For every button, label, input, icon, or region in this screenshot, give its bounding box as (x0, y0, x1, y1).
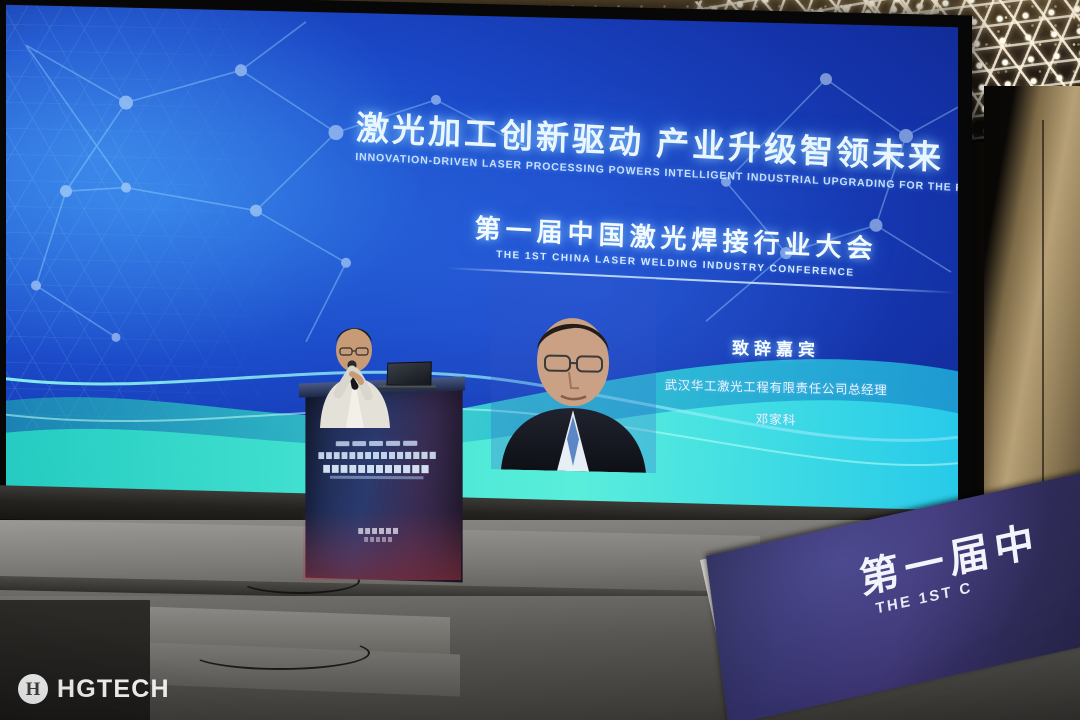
sponsor-logo-chip (352, 441, 366, 446)
conference-photo-scene: 激光加工创新驱动 产业升级智领未来 INNOVATION-DRIVEN LASE… (0, 0, 1080, 720)
caption-organization: 武汉华工激光工程有限责任公司总经理 (626, 373, 926, 399)
caption-role-label: 致辞嘉宾 (626, 331, 926, 363)
subhead-block: 第一届中国激光焊接行业大会 THE 1ST CHINA LASER WELDIN… (460, 208, 891, 281)
hgtech-logo-icon: H (18, 674, 48, 704)
sponsor-logo-chip (336, 441, 350, 446)
podium-branding-panel (318, 440, 435, 483)
speaker-caption: 致辞嘉宾 武汉华工激光工程有限责任公司总经理 邓家科 (626, 331, 926, 431)
banner-text-layer: 激光加工创新驱动 产业升级智领未来 INNOVATION-DRIVEN LASE… (6, 5, 958, 515)
sponsor-logo-chip (386, 441, 400, 446)
floor-cable-2 (190, 636, 370, 670)
podium-title-line (318, 452, 435, 459)
podium-subtitle-en-line (330, 476, 424, 480)
hgtech-watermark: H HGTECH (18, 672, 170, 706)
led-screen-frame: 激光加工创新驱动 产业升级智领未来 INNOVATION-DRIVEN LASE… (0, 0, 972, 536)
headline-block: 激光加工创新驱动 产业升级智领未来 INNOVATION-DRIVEN LASE… (355, 101, 937, 193)
caption-speaker-name: 邓家科 (626, 405, 926, 431)
podium-subtitle-line (323, 465, 431, 473)
sponsor-logo-chip (369, 441, 383, 446)
led-screen: 激光加工创新驱动 产业升级智领未来 INNOVATION-DRIVEN LASE… (6, 5, 958, 515)
speaker-person (308, 318, 400, 428)
podium-red-glow (303, 510, 461, 580)
podium-sponsor-logos (318, 440, 435, 448)
hgtech-brand-text: HGTECH (57, 677, 170, 702)
sponsor-logo-chip (403, 441, 417, 446)
hgtech-logo-glyph: H (26, 680, 41, 699)
